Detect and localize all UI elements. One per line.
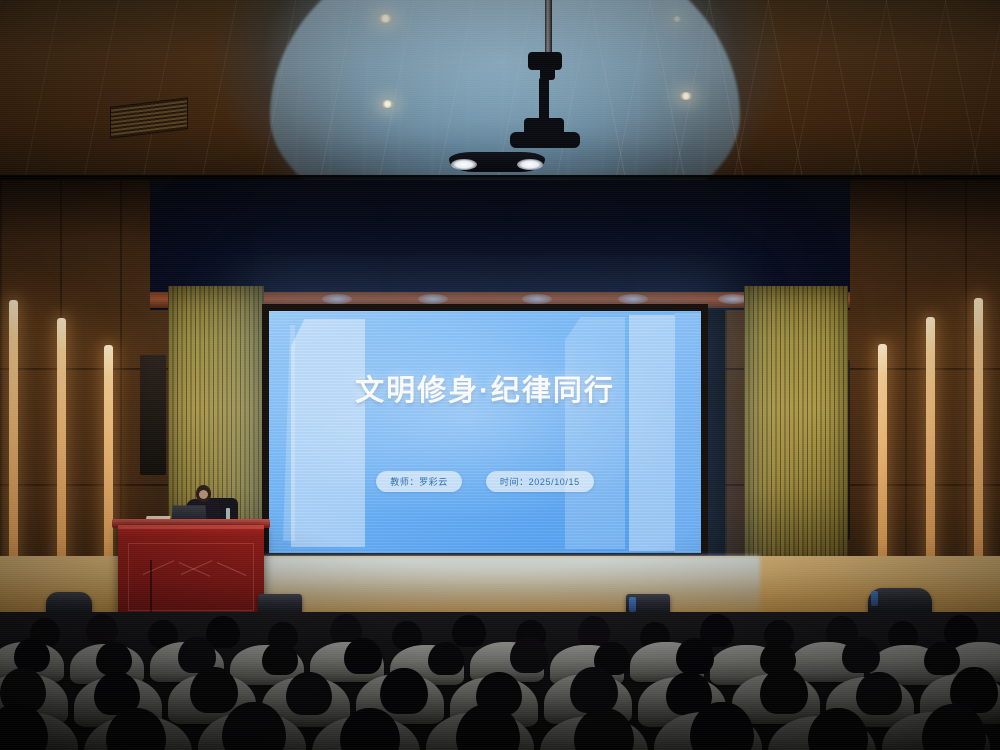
projection-screen: 文明修身·纪律同行 教师：罗彩云 时间：2025/10/15 — [262, 304, 708, 560]
ceiling-spotlight-icon — [378, 14, 393, 23]
wall-light-strip — [878, 344, 887, 582]
audience-seating — [0, 612, 1000, 750]
projector-lamp-icon — [449, 152, 545, 172]
teacher-pill: 教师：罗彩云 — [376, 471, 462, 492]
wall-light-strip — [57, 318, 66, 584]
wall-light-strip — [104, 345, 113, 583]
wall-light-strip — [926, 317, 935, 583]
wall-light-strip — [9, 300, 18, 585]
podium — [118, 525, 264, 621]
presentation-slide: 文明修身·纪律同行 教师：罗彩云 时间：2025/10/15 — [269, 311, 701, 553]
slide-title: 文明修身·纪律同行 — [269, 367, 701, 409]
stage-monitor-speaker — [868, 588, 932, 614]
auditorium-photo: 文明修身·纪律同行 教师：罗彩云 时间：2025/10/15 — [0, 0, 1000, 750]
date-pill: 时间：2025/10/15 — [486, 471, 594, 492]
slide-panel-right-b — [629, 315, 675, 551]
ceiling-spotlight-icon — [381, 100, 394, 108]
slide-panel-right-a — [565, 317, 625, 549]
wall-light-strip — [974, 298, 983, 584]
slide-meta-row: 教师：罗彩云 时间：2025/10/15 — [269, 471, 701, 492]
ceiling-spotlight-icon — [672, 16, 682, 22]
stage-curtain-right — [744, 286, 848, 576]
slide-panel-left — [291, 319, 365, 547]
slide-panel-right-c — [675, 313, 701, 553]
speaker-column-left — [140, 355, 166, 475]
projector-bracket — [510, 132, 580, 148]
ceiling-ribs-right — [570, 0, 1000, 200]
podium-panel — [128, 543, 254, 611]
ceiling-spotlight-icon — [679, 92, 693, 100]
floor-cable — [150, 560, 152, 616]
presenter-face — [199, 490, 208, 499]
